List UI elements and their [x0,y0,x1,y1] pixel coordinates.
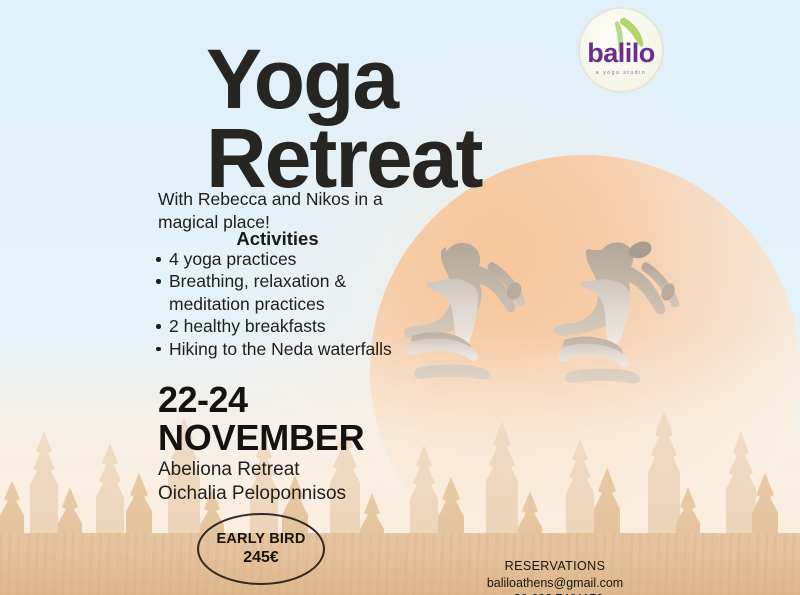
list-item: 4 yoga practices [169,248,429,270]
reservations-phone[interactable]: +30 698 7401170 [430,591,680,595]
badge-price: 245€ [243,550,279,566]
svg-text:a yoga studio: a yoga studio [596,70,647,76]
ground-texture [0,533,800,595]
venue-name: Abeliona Retreat [158,458,458,482]
date-days: 22-24 [158,382,248,419]
date-month: NOVEMBER [158,420,364,457]
title-line-2: Retreat [206,119,626,198]
balilo-logo[interactable]: balilo a yoga studio [573,2,669,98]
list-item: 2 healthy breakfasts [169,315,429,337]
early-bird-badge: EARLY BIRD 245€ [197,513,325,585]
intro-text: With Rebecca and Nikos in a magical plac… [158,188,408,234]
reservations-block: RESERVATIONS baliloathens@gmail.com +30 … [430,558,680,595]
activities-heading: Activities [155,228,400,250]
page-title: Yoga Retreat [206,40,626,198]
svg-text:balilo: balilo [587,38,655,68]
list-item: Breathing, relaxation & meditation pract… [169,270,429,315]
venue-location: Oichalia Peloponnisos [158,482,458,506]
reservations-email[interactable]: baliloathens@gmail.com [430,575,680,592]
venue-block: Abeliona Retreat Oichalia Peloponnisos [158,458,458,506]
reservations-heading: RESERVATIONS [430,558,680,575]
badge-label: EARLY BIRD [216,532,305,547]
poster-canvas: Yoga Retreat balilo a yoga studio With R… [0,0,800,595]
list-item: Hiking to the Neda waterfalls [169,338,429,360]
activities-list: 4 yoga practices Breathing, relaxation &… [152,248,429,360]
